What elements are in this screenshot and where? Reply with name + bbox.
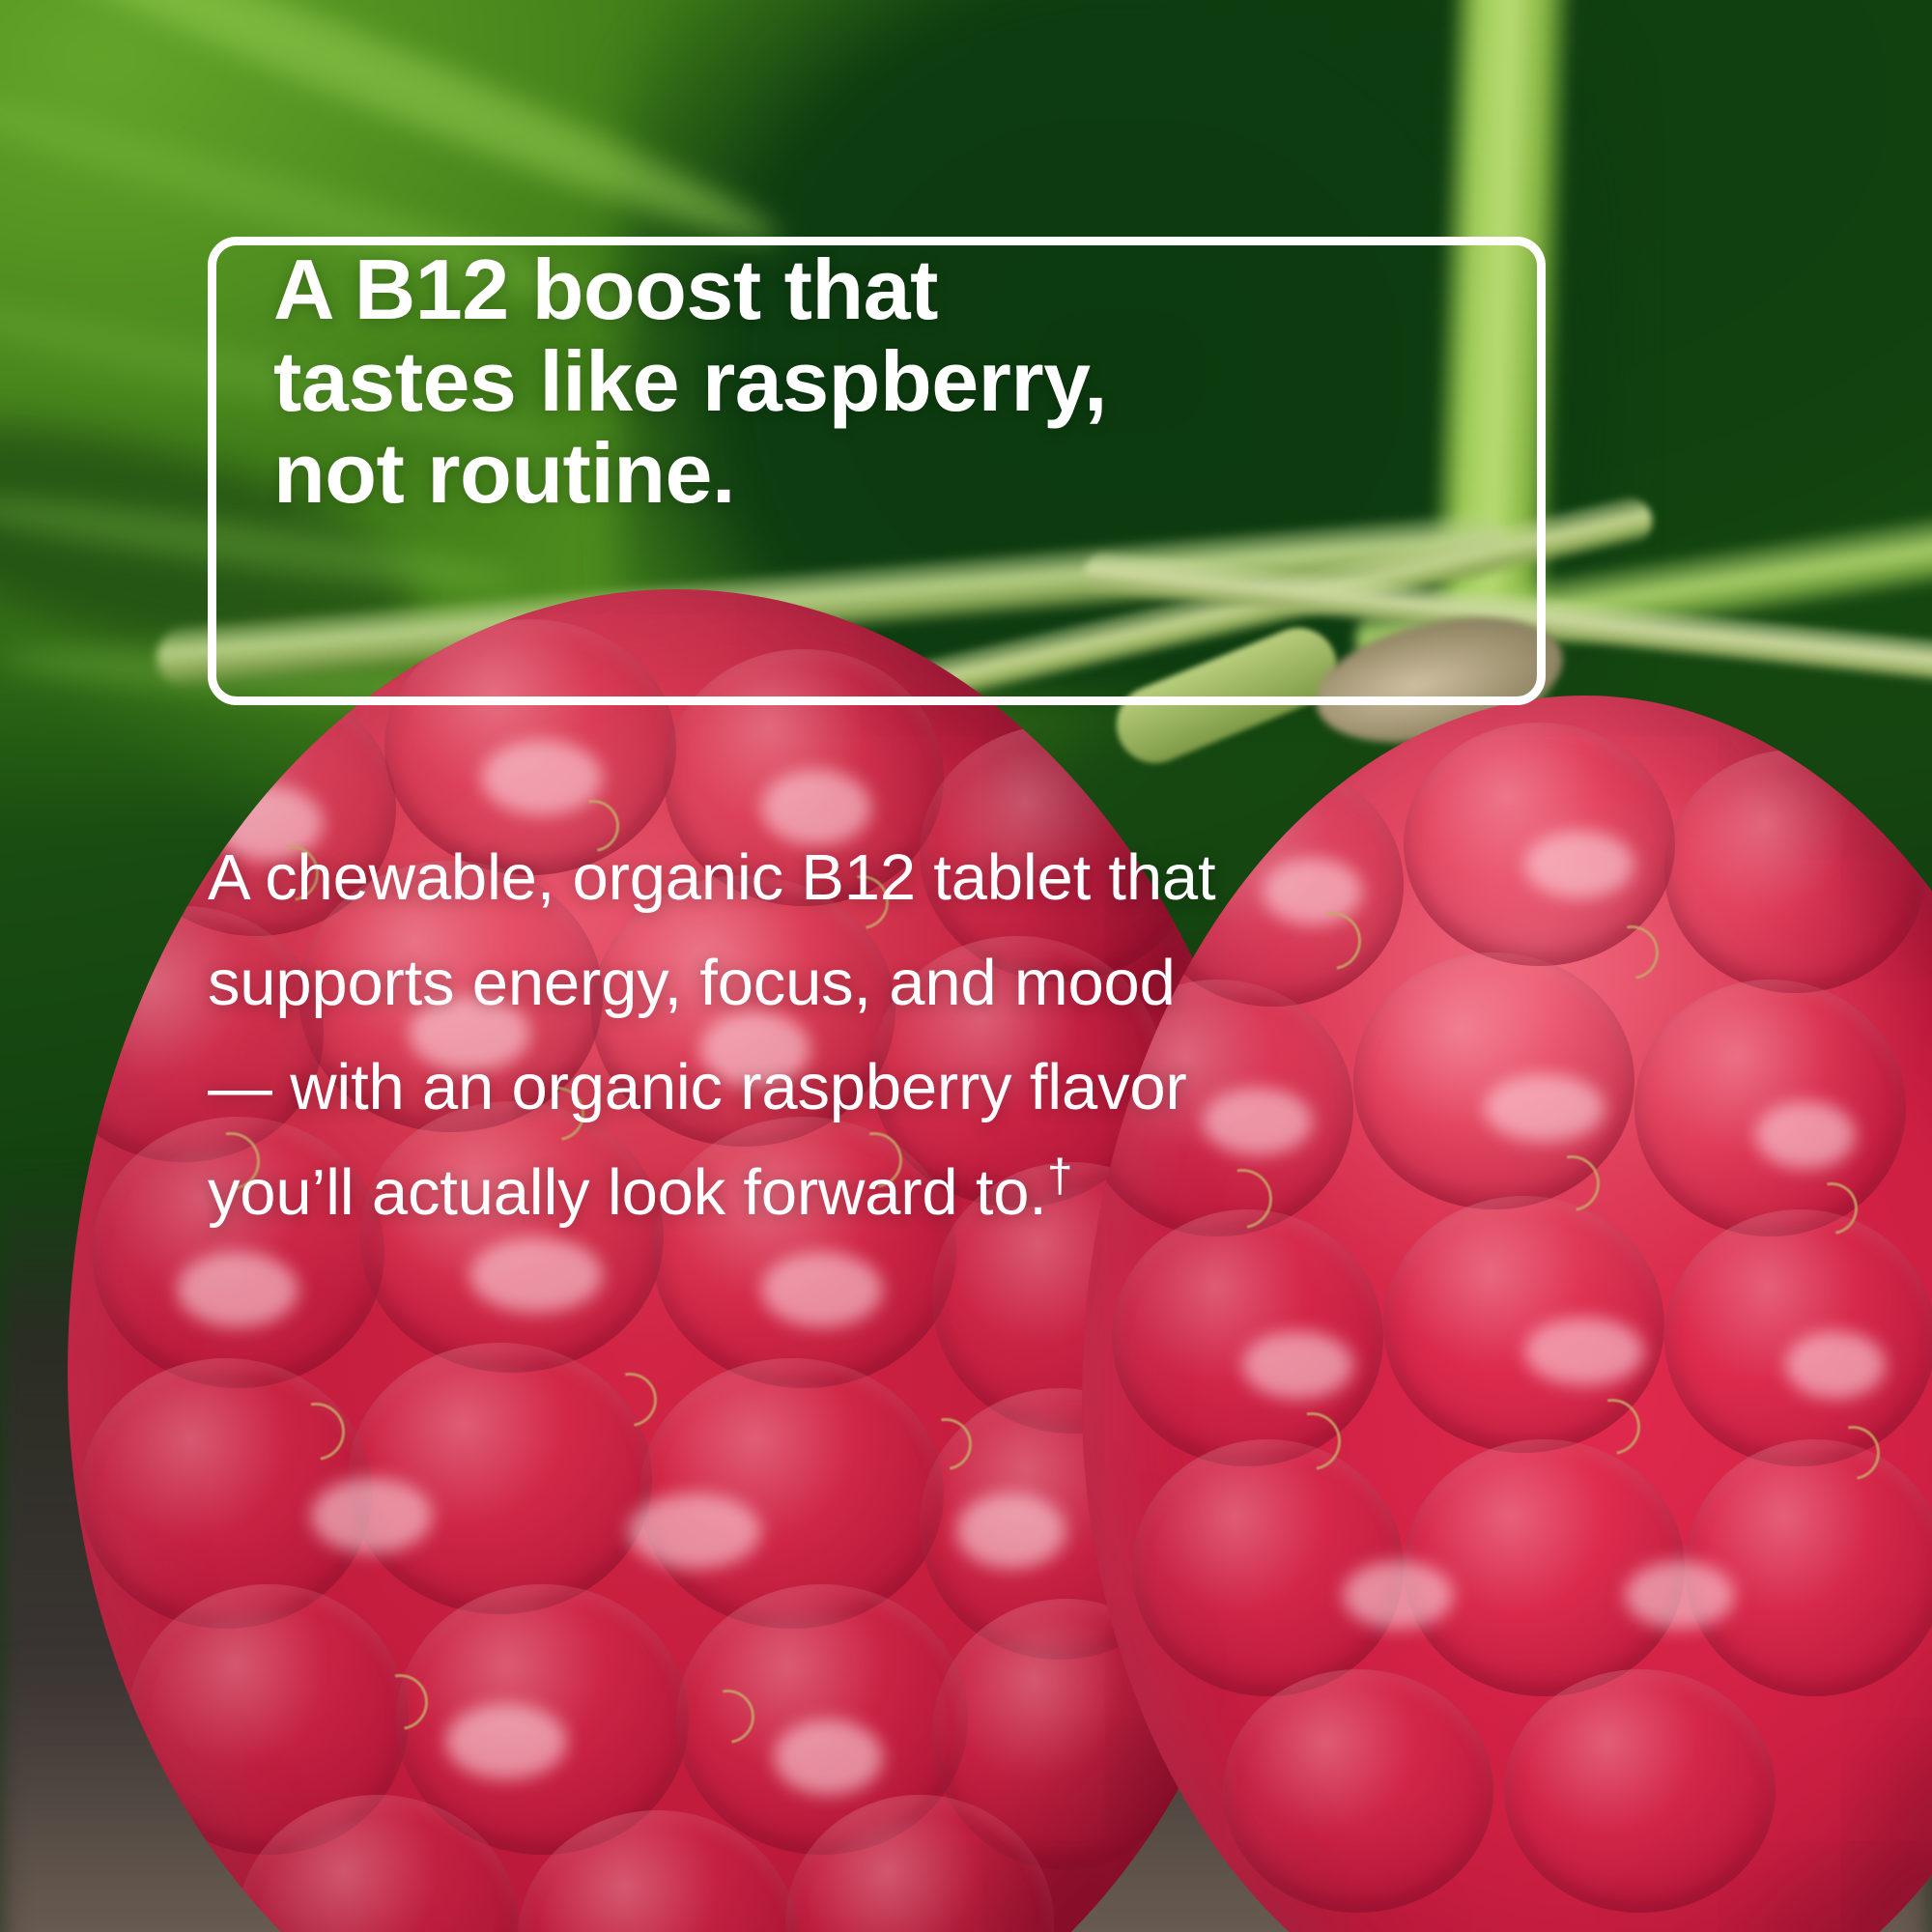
body-copy: A chewable, organic B12 tablet that supp… [208, 826, 1579, 1245]
headline: A B12 boost that tastes like raspberry, … [273, 243, 1529, 519]
ad-creative-canvas: A B12 boost that tastes like raspberry, … [0, 0, 1932, 1932]
body-line-3: — with an organic raspberry flavor [208, 1036, 1579, 1141]
body-line-1: A chewable, organic B12 tablet that [208, 826, 1579, 931]
headline-line-1: A B12 boost that [273, 243, 1529, 335]
body-line-4-text: you’ll actually look forward to. [208, 1156, 1047, 1229]
body-line-2: supports energy, focus, and mood [208, 931, 1579, 1037]
headline-line-2: tastes like raspberry, [273, 335, 1529, 427]
body-line-4: you’ll actually look forward to.† [208, 1141, 1579, 1246]
headline-line-3: not routine. [273, 427, 1529, 519]
footnote-dagger-marker: † [1047, 1150, 1073, 1202]
